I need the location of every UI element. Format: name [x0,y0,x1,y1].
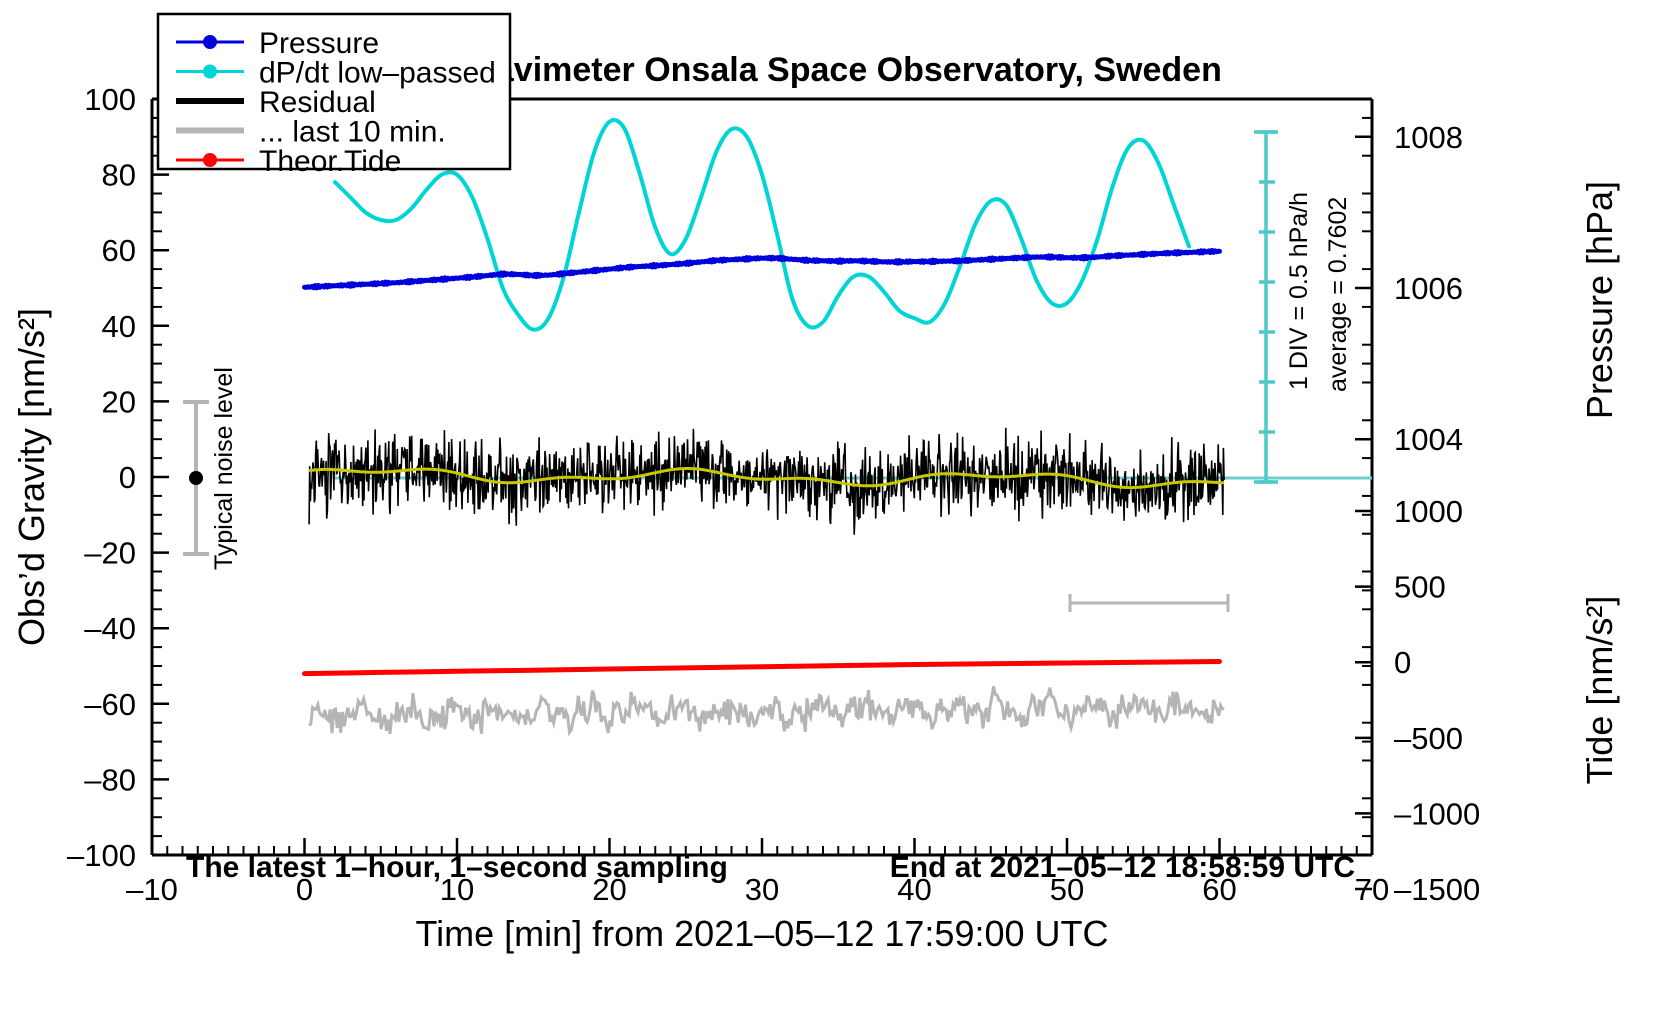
tide-tick-label: 500 [1394,570,1446,605]
pressure-tick-label: 1004 [1394,422,1463,457]
typical-noise-level-marker: Typical noise level [183,367,238,570]
legend-item-label: dP/dt low–passed [259,57,496,90]
x-axis-title: Time [min] from 2021–05–12 17:59:00 UTC [415,913,1108,954]
y-axis-left: –100–80–60–40–20020406080100 [67,82,169,873]
chart-svg: –100–80–60–40–20020406080100 –1001020304… [0,0,1660,1020]
typical-noise-level-label: Typical noise level [210,367,238,570]
tide-tick-label: –1000 [1394,796,1480,831]
y-tick-label: –60 [84,687,136,722]
y-axis-title-left: Obs’d Gravity [nm/s²] [11,308,52,646]
legend-item-label: Residual [259,86,376,119]
scale-average-label: average = 0.7602 [1324,197,1352,392]
y-tick-label: 80 [102,158,136,193]
x-tick-label: 30 [745,872,779,907]
end-time-note: End at 2021–05–12 18:58:59 UTC [890,851,1355,884]
y-tick-label: –20 [84,536,136,571]
tide-tick-label: 1000 [1394,494,1463,529]
pressure-tick-label: 1008 [1394,120,1463,155]
pressure-tick-label: 1006 [1394,271,1463,306]
gravimeter-chart: –100–80–60–40–20020406080100 –1001020304… [0,0,1660,1020]
y-axis-title-right-pressure: Pressure [hPa] [1579,181,1620,419]
dpdt-scale-bar: 1 DIV = 0.5 hPa/h average = 0.7602 [1254,132,1352,482]
x-tick-label: –10 [126,872,178,907]
last-10-min-span-bar [1070,594,1228,612]
legend-item-label: ... last 10 min. [259,116,446,149]
legend-item-label: Theor.Tide [259,145,401,178]
legend: PressuredP/dt low–passedResidual... last… [158,14,510,178]
legend-item-label: Pressure [259,27,379,60]
y-axis-title-right-tide: Tide [nm/s²] [1579,596,1620,785]
scale-div-label: 1 DIV = 0.5 hPa/h [1285,192,1313,390]
tide-tick-label: 0 [1394,645,1411,680]
y-tick-label: –80 [84,762,136,797]
y-tick-label: 0 [119,460,136,495]
y-tick-label: 20 [102,384,136,419]
y-tick-label: 40 [102,309,136,344]
y-tick-label: 100 [84,82,136,117]
y-tick-label: –40 [84,611,136,646]
series-last-10-min [309,686,1224,734]
y-tick-label: –100 [67,838,136,873]
tide-tick-label: –1500 [1394,872,1480,907]
sampling-note: The latest 1–hour, 1–second sampling [186,851,728,884]
tide-tick-label: –500 [1394,721,1463,756]
series-theoretical-tide [305,662,1220,674]
y-tick-label: 60 [102,233,136,268]
y-axis-right: 100410061008 –1500–1000–50005001000 [1355,118,1480,907]
